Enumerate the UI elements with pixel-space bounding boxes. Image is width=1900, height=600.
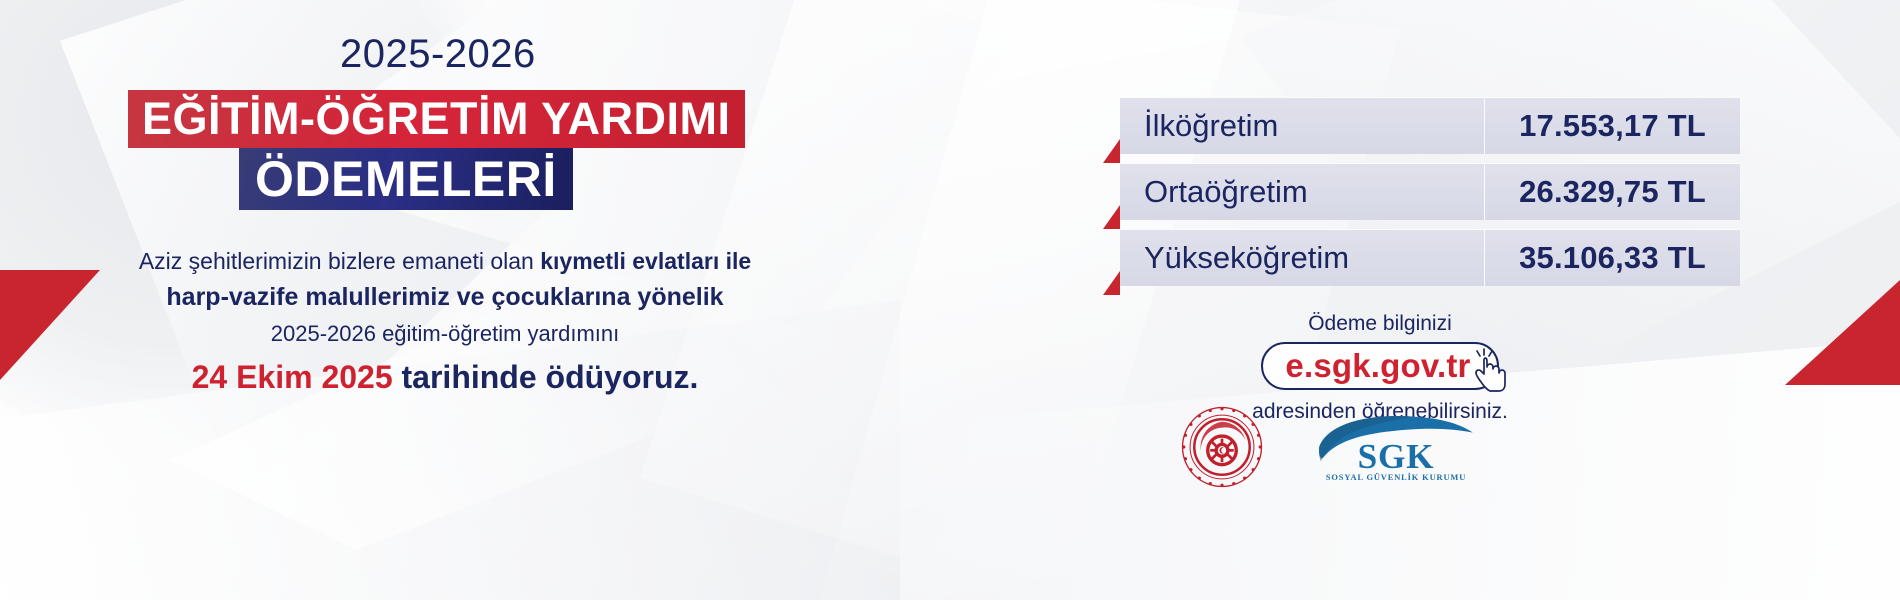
sgk-education-payment-banner: 2025-2026 EĞİTİM-ÖĞRETİM YARDIMI ÖDEMELE… <box>0 0 1900 600</box>
sgk-logo: SGK SOSYAL GÜVENLİK KURUMU <box>1316 410 1476 484</box>
payment-date-suffix: tarihinde ödüyoruz. <box>393 359 699 395</box>
payment-amounts-table: İlköğretim 17.553,17 TL Ortaöğretim 26.3… <box>1120 97 1740 295</box>
info-top-text: Ödeme bilginizi <box>950 312 1810 336</box>
description-line-2: harp-vazife malullerimiz ve çocuklarına … <box>0 281 890 315</box>
table-row: Ortaöğretim 26.329,75 TL <box>1120 163 1740 220</box>
description-line-3: 2025-2026 eğitim-öğretim yardımını <box>0 319 890 348</box>
red-corner-marker-icon <box>1103 271 1120 295</box>
sgk-subtitle: SOSYAL GÜVENLİK KURUMU <box>1326 472 1466 482</box>
url-pill-wrapper: e.sgk.gov.tr <box>1261 342 1498 390</box>
title-line-1: EĞİTİM-ÖĞRETİM YARDIMI <box>142 93 731 145</box>
title-line-2: ÖDEMELERİ <box>255 150 557 208</box>
sgk-acronym: SGK <box>1358 437 1435 476</box>
title-bar-red: EĞİTİM-ÖĞRETİM YARDIMI <box>128 90 745 148</box>
description-line-1-normal: Aziz şehitlerimizin bizlere emaneti olan <box>139 248 540 274</box>
education-level-label: İlköğretim <box>1120 108 1484 144</box>
esgk-url-button[interactable]: e.sgk.gov.tr <box>1261 342 1498 390</box>
payment-date: 24 Ekim 2025 <box>192 359 393 395</box>
ministry-seal-logo <box>1180 405 1264 489</box>
red-corner-marker-icon <box>1103 205 1120 229</box>
description-line-1: Aziz şehitlerimizin bizlere emaneti olan… <box>0 246 890 277</box>
pointing-hand-icon <box>1471 348 1513 394</box>
title-bar-blue: ÖDEMELERİ <box>239 148 573 210</box>
esgk-url-text: e.sgk.gov.tr <box>1285 347 1470 385</box>
payment-amount-value: 26.329,75 TL <box>1485 174 1740 210</box>
education-level-label: Yükseköğretim <box>1120 240 1484 276</box>
table-row: İlköğretim 17.553,17 TL <box>1120 97 1740 154</box>
left-content-column: 2025-2026 EĞİTİM-ÖĞRETİM YARDIMI ÖDEMELE… <box>0 0 950 600</box>
description-line-4: 24 Ekim 2025 tarihinde ödüyoruz. <box>0 356 890 399</box>
description-paragraph: Aziz şehitlerimizin bizlere emaneti olan… <box>0 246 890 399</box>
red-corner-marker-icon <box>1103 139 1120 163</box>
payment-amount-value: 17.553,17 TL <box>1485 108 1740 144</box>
description-line-1-bold: kıymetli evlatları ile <box>540 248 751 274</box>
payment-amount-value: 35.106,33 TL <box>1485 240 1740 276</box>
academic-year-label: 2025-2026 <box>340 32 536 77</box>
logos-row: SGK SOSYAL GÜVENLİK KURUMU <box>1180 402 1600 492</box>
education-level-label: Ortaöğretim <box>1120 174 1484 210</box>
table-row: Yükseköğretim 35.106,33 TL <box>1120 229 1740 286</box>
right-content-column: İlköğretim 17.553,17 TL Ortaöğretim 26.3… <box>950 0 1900 600</box>
